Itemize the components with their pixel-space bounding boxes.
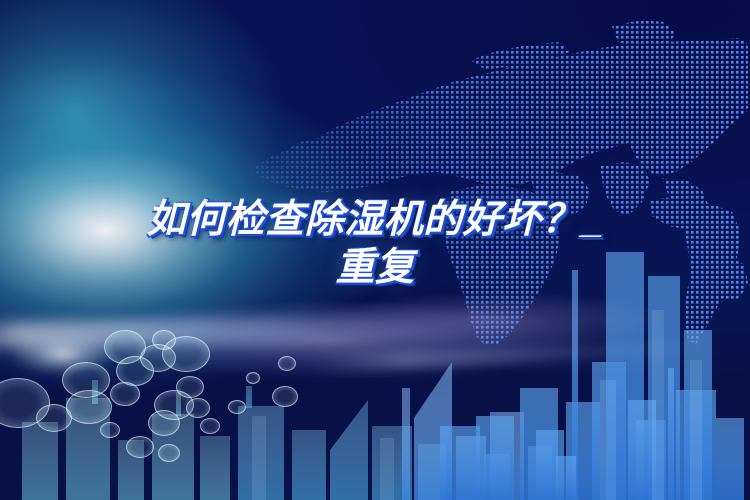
banner-image: 如何检查除湿机的好坏？_ 重复 bbox=[0, 0, 750, 500]
banner-title: 如何检查除湿机的好坏？_ 重复 bbox=[0, 196, 750, 292]
banner-title-line-1: 如何检查除湿机的好坏？_ bbox=[0, 196, 750, 244]
banner-title-line-2: 重复 bbox=[0, 244, 750, 292]
